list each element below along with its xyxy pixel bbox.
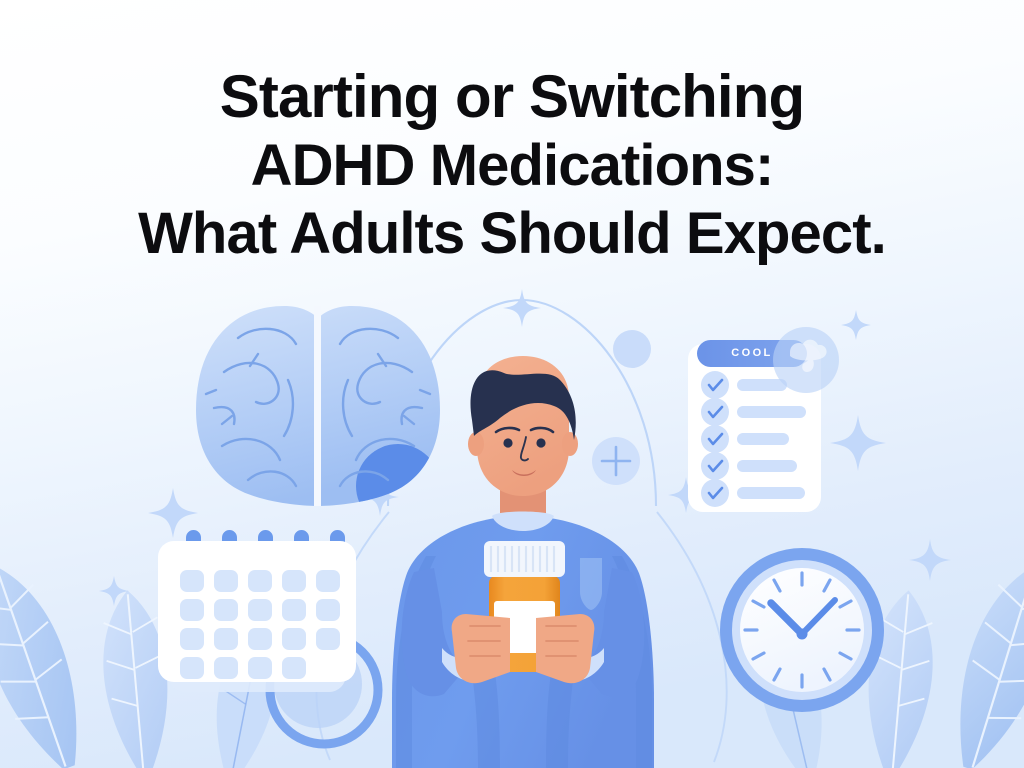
- checklist-header-label-wrap: COOL: [697, 340, 807, 367]
- person-ear-right: [562, 432, 578, 456]
- person-ear-left: [468, 432, 484, 456]
- bottle-cap: [484, 541, 565, 577]
- clock-center-pin: [797, 629, 808, 640]
- clock-icon: [720, 548, 884, 712]
- eye-right: [536, 438, 545, 447]
- brain-midline: [314, 306, 321, 506]
- hand-left: [452, 614, 510, 683]
- eye-left: [503, 438, 512, 447]
- orbit-dot: [613, 330, 651, 368]
- illustration-canvas: Starting or Switching ADHD Medications: …: [0, 0, 1024, 768]
- sweater-pocket: [580, 558, 602, 610]
- plus-circle-icon: [592, 437, 640, 485]
- hand-right: [536, 614, 594, 683]
- checklist-header-label: COOL: [697, 340, 807, 367]
- hero-illustration: [0, 0, 1024, 768]
